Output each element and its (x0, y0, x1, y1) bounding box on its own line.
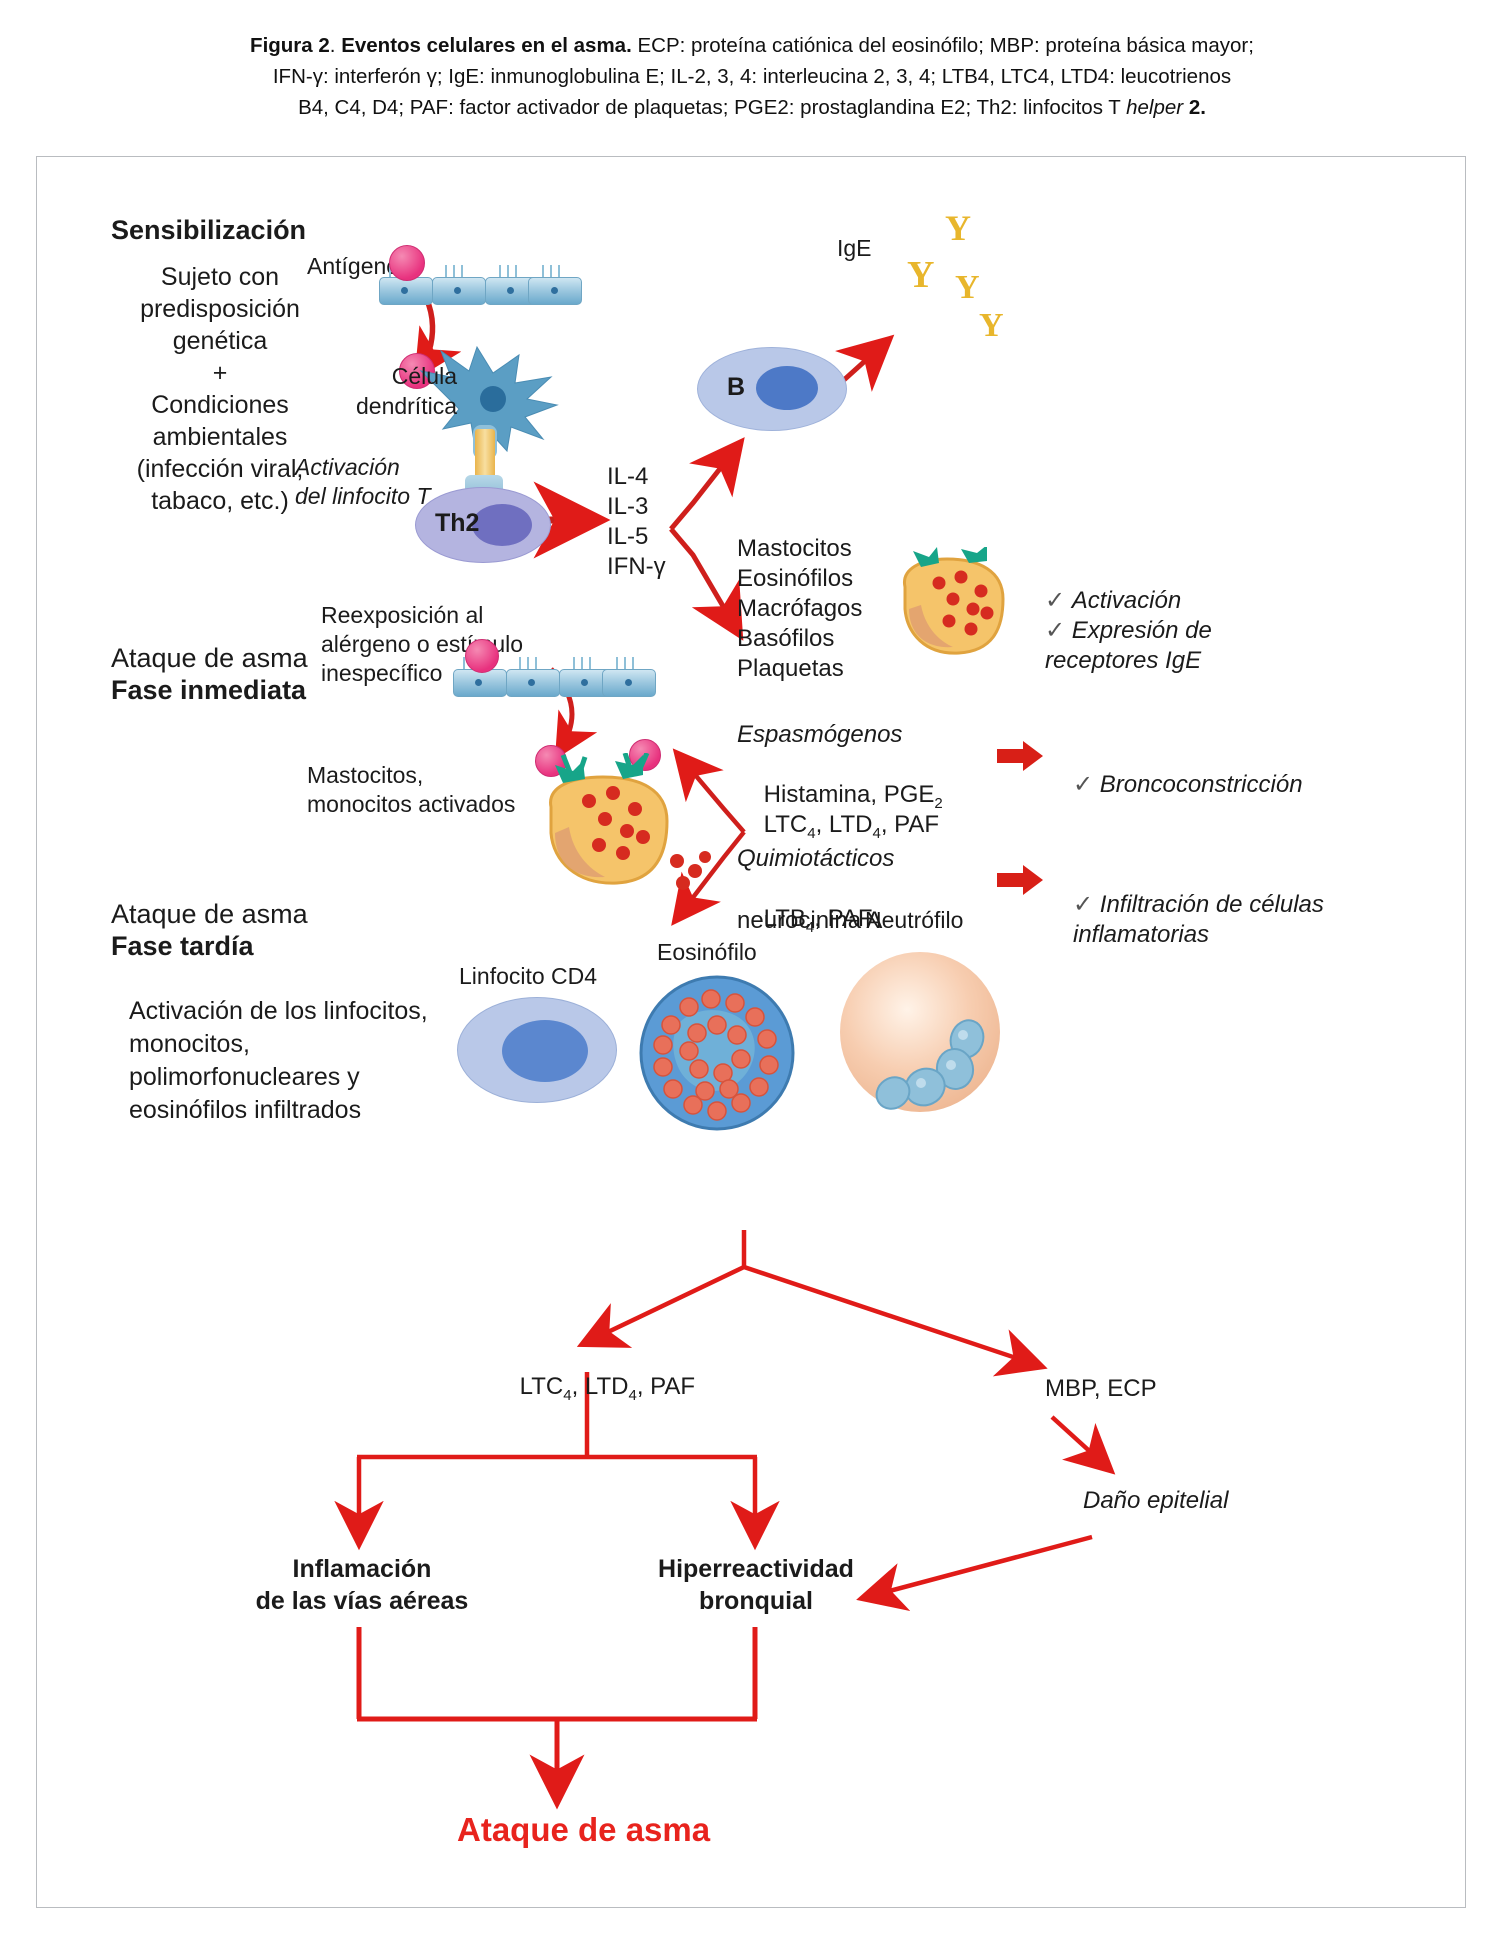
label-epithelial-damage: Daño epitelial (1083, 1487, 1228, 1515)
label-ige: IgE (837, 235, 872, 262)
ige-antibody-icon: Y (907, 253, 934, 297)
target-cell-macrofagos: Macrófagos (737, 595, 862, 623)
b-cell (697, 347, 847, 431)
cell-neutrophil (835, 947, 1005, 1117)
mast-cell-activated (527, 753, 717, 903)
antigen-particle-top (389, 245, 425, 281)
caption-line3-italic: helper (1126, 96, 1183, 119)
target-cell-eosinofilos: Eosinófilos (737, 565, 853, 593)
spasmogens-ltd-sub: 4 (872, 825, 880, 842)
ige-antibody-icon: Y (945, 207, 971, 249)
caption-title: Eventos celulares en el asma. (341, 34, 632, 57)
section-title-immediate-line2: Fase inmediata (111, 675, 306, 706)
label-b-cell: B (727, 373, 745, 402)
caption-line3-a: B4, C4, D4; PAF: factor activador de pla… (298, 96, 1126, 119)
label-lymphocyte-cd4: Linfocito CD4 (459, 963, 597, 990)
bottom-ltc-sub: 4 (563, 1387, 571, 1404)
spasmogens-ltd: , LTD (816, 811, 873, 838)
figure-frame: Sensibilización Sujeto con predisposició… (36, 156, 1466, 1908)
cytokine-ifn-gamma: IFN-γ (607, 553, 666, 581)
mast-cell-upper (887, 547, 1017, 667)
cytokine-il5: IL-5 (607, 523, 648, 551)
target-cell-plaquetas: Plaquetas (737, 655, 844, 683)
caption-line2: IFN-γ: interferón γ; IgE: inmunoglobulin… (273, 65, 1231, 88)
spasmogens-title: Espasmógenos (737, 721, 902, 749)
figure-caption: Figura 2. Eventos celulares en el asma. … (60, 30, 1444, 123)
bottom-mediators-left: LTC4, LTD4, PAF (493, 1345, 695, 1432)
result-infiltracion: ✓ Infiltración de células inflamatorias (1073, 861, 1324, 949)
cell-lymphocyte-cd4 (457, 997, 617, 1103)
section-title-sensitization: Sensibilización (111, 215, 306, 246)
bottom-mediators-right: MBP, ECP (1045, 1375, 1157, 1403)
section-title-late-line1: Ataque de asma (111, 899, 308, 930)
target-cell-basofilos: Basófilos (737, 625, 834, 653)
result-broncoconstriccion: ✓ Broncoconstricción (1073, 741, 1303, 800)
block-arrow-infiltracion (997, 865, 1043, 895)
check-icon: ✓ (1073, 891, 1100, 918)
caption-figure-label: Figura 2 (250, 34, 330, 57)
cell-eosinophil (637, 973, 797, 1133)
section-title-late-line2: Fase tardía (111, 931, 254, 962)
cytokine-il4: IL-4 (607, 463, 648, 491)
label-dendritic-cell: Célula dendrítica (327, 361, 457, 421)
chemotactic-line-2: neurocinina A (737, 907, 882, 935)
section-body-late: Activación de los linfocitos, monocitos,… (129, 995, 428, 1127)
bottom-ltd-sub: 4 (628, 1387, 636, 1404)
outcome-inflammation: Inflamación de las vías aéreas (239, 1553, 485, 1617)
label-eosinophil: Eosinófilo (657, 939, 757, 966)
label-th2: Th2 (435, 509, 479, 538)
ige-antibody-icon: Y (955, 269, 980, 307)
result-infiltracion-label: Infiltración de células inflamatorias (1073, 891, 1324, 947)
spasmogens-ltc: LTC (764, 811, 808, 838)
activation-check-2: ✓ Expresión de receptores IgE (1045, 587, 1212, 675)
check-icon: ✓ (1073, 771, 1100, 798)
caption-line1-rest: ECP: proteína catiónica del eosinófilo; … (632, 34, 1254, 57)
caption-line3-b: 2. (1183, 96, 1206, 119)
cytokine-il3: IL-3 (607, 493, 648, 521)
chemotactic-title: Quimiotácticos (737, 845, 894, 873)
antigen-particle-reexposure (465, 639, 499, 673)
outcome-hyperreactivity: Hiperreactividad bronquial (633, 1553, 879, 1617)
outcome-final-asthma-attack: Ataque de asma (457, 1811, 657, 1849)
check-icon: ✓ (1045, 617, 1072, 644)
label-neutrophil: Neutrófilo (865, 907, 963, 934)
section-title-immediate-line1: Ataque de asma (111, 643, 308, 674)
target-cell-mastocitos: Mastocitos (737, 535, 852, 563)
result-broncoconstriccion-label: Broncoconstricción (1100, 771, 1303, 798)
spasmogens-ltc-sub: 4 (807, 825, 815, 842)
label-mast-monocytes: Mastocitos, monocitos activados (307, 761, 515, 819)
block-arrow-broncoconstriccion (997, 741, 1043, 771)
caption-period: . (330, 34, 341, 57)
bottom-paf: , PAF (637, 1373, 695, 1400)
bottom-ltc: LTC (520, 1373, 564, 1400)
ige-antibody-icon: Y (979, 307, 1004, 345)
bottom-ltd: , LTD (572, 1373, 629, 1400)
spasmogens-paf: , PAF (881, 811, 939, 838)
